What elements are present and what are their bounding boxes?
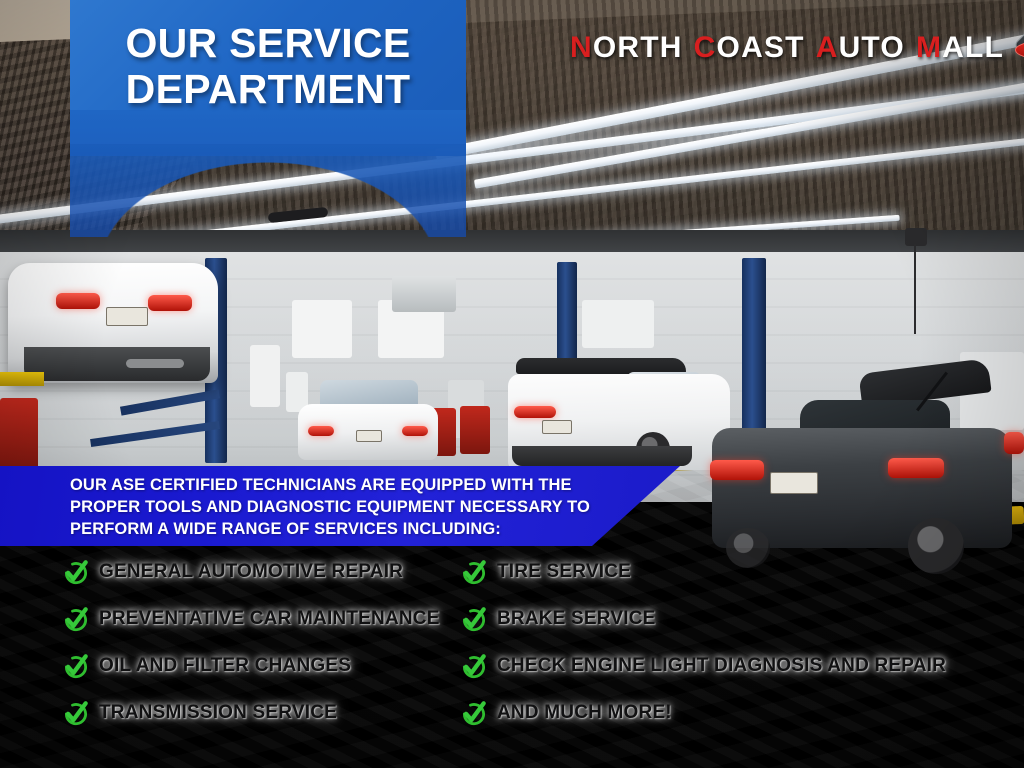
car-white-suv-lifted [508, 358, 730, 470]
hose-line [914, 244, 916, 334]
description-line2: PROPER TOOLS AND DIAGNOSTIC EQUIPMENT NE… [70, 497, 680, 519]
tail-light [1004, 432, 1024, 454]
list-item: AND MUCH MORE! [460, 689, 946, 736]
description-line1: OUR ASE CERTIFIED TECHNICIANS ARE EQUIPP… [70, 475, 680, 497]
list-item-label: TRANSMISSION SERVICE [99, 702, 337, 724]
green-check-icon [62, 558, 90, 586]
header-panel: OUR SERVICE DEPARTMENT [70, 0, 466, 237]
green-check-icon [460, 652, 488, 680]
green-check-icon [460, 699, 488, 727]
description-banner: OUR ASE CERTIFIED TECHNICIANS ARE EQUIPP… [0, 466, 680, 546]
car-white-sedan-lifted [8, 263, 218, 383]
services-list: GENERAL AUTOMOTIVE REPAIR PREVENTATIVE C… [0, 548, 1024, 748]
yellow-stand [0, 372, 44, 386]
brand-logo[interactable]: NORTH COAST AUTO MALL STOP OVER PAYING [570, 28, 1024, 68]
tail-light [888, 458, 944, 478]
tail-light [308, 426, 334, 436]
badge-text-over: OVER [1015, 42, 1024, 57]
car-underbody [512, 446, 692, 466]
stop-over-paying-badge: STOP OVER PAYING [1013, 19, 1024, 77]
header-panel-arch [70, 144, 466, 237]
wall-panel [582, 300, 654, 348]
list-item-label: OIL AND FILTER CHANGES [99, 655, 351, 677]
logo-word-coast: COAST [694, 31, 805, 65]
license-plate [542, 420, 572, 434]
logo-cap-a: A [816, 31, 839, 64]
logo-cap-c: C [694, 31, 717, 64]
logo-rest-uto: UTO [839, 31, 905, 64]
list-item: TIRE SERVICE [460, 548, 946, 595]
logo-rest-orth: ORTH [593, 31, 683, 64]
tool-cart [460, 406, 490, 454]
tail-light [402, 426, 428, 436]
list-item: CHECK ENGINE LIGHT DIAGNOSIS AND REPAIR [460, 642, 946, 689]
tail-light [514, 406, 556, 418]
page-title-line2: DEPARTMENT [70, 66, 466, 112]
license-plate [106, 307, 148, 326]
electrical-panel [250, 345, 280, 407]
hvac-unit [392, 276, 456, 312]
list-item-label: AND MUCH MORE! [497, 702, 672, 724]
green-check-icon [62, 652, 90, 680]
list-item-label: GENERAL AUTOMOTIVE REPAIR [99, 561, 403, 583]
logo-cap-n: N [570, 31, 593, 64]
green-check-icon [460, 605, 488, 633]
logo-rest-all: ALL [942, 31, 1004, 64]
list-item-label: PREVENTATIVE CAR MAINTENANCE [99, 608, 440, 630]
services-column-left: GENERAL AUTOMOTIVE REPAIR PREVENTATIVE C… [62, 548, 440, 736]
list-item: BRAKE SERVICE [460, 595, 946, 642]
logo-rest-oast: OAST [717, 31, 805, 64]
tail-light [148, 295, 192, 311]
list-item-label: BRAKE SERVICE [497, 608, 656, 630]
exhaust-pipe [126, 359, 184, 368]
service-department-banner: OUR SERVICE DEPARTMENT NORTH COAST AUTO … [0, 0, 1024, 768]
wall-panel [292, 300, 352, 358]
list-item-label: CHECK ENGINE LIGHT DIAGNOSIS AND REPAIR [497, 655, 946, 677]
list-item: TRANSMISSION SERVICE [62, 689, 440, 736]
badge-text-paying: PAYING [1013, 56, 1024, 73]
car-white-sedan-floor [298, 388, 438, 460]
green-check-icon [460, 558, 488, 586]
list-item: GENERAL AUTOMOTIVE REPAIR [62, 548, 440, 595]
description-banner-text: OUR ASE CERTIFIED TECHNICIANS ARE EQUIPP… [0, 466, 680, 540]
car-dark-sedan [712, 372, 1012, 572]
green-check-icon [62, 699, 90, 727]
logo-word-north: NORTH [570, 31, 683, 65]
description-line3: PERFORM A WIDE RANGE OF SERVICES INCLUDI… [70, 519, 680, 541]
page-title: OUR SERVICE DEPARTMENT [70, 20, 466, 113]
list-item-label: TIRE SERVICE [497, 561, 631, 583]
logo-cap-m: M [916, 31, 942, 64]
tail-light [710, 460, 764, 480]
tail-light [56, 293, 100, 309]
logo-word-mall: MALL [916, 31, 1004, 65]
license-plate [356, 430, 382, 442]
page-title-line1: OUR SERVICE [70, 20, 466, 66]
license-plate [770, 472, 818, 494]
tool-cart [0, 398, 38, 470]
green-check-icon [62, 605, 90, 633]
list-item: PREVENTATIVE CAR MAINTENANCE [62, 595, 440, 642]
badge-text-stop: STOP [1013, 26, 1024, 43]
services-column-right: TIRE SERVICE BRAKE SERVICE CHECK ENGINE … [460, 548, 946, 736]
hose-reel [905, 228, 927, 246]
logo-word-auto: AUTO [816, 31, 905, 65]
list-item: OIL AND FILTER CHANGES [62, 642, 440, 689]
